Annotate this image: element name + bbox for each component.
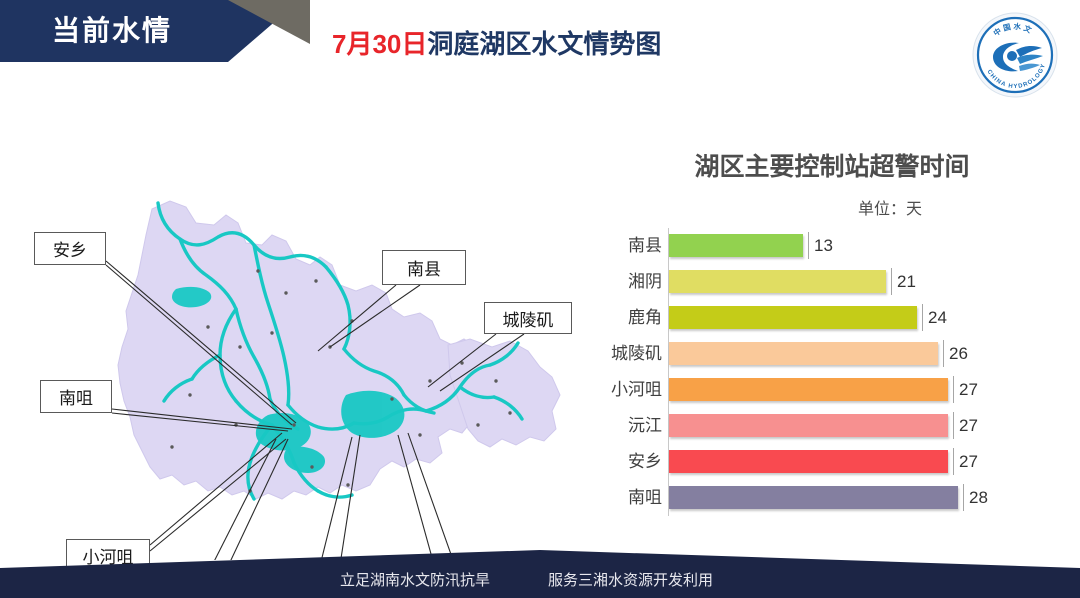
footer-slogan-left: 立足湖南水文防汛抗旱 — [340, 568, 490, 594]
chart-title: 湖区主要控制站超警时间 — [632, 150, 1032, 184]
map-panel: 安乡 南县 城陵矶 南咀 小河咀 沅江 湘阴 鹿角 — [0, 95, 600, 560]
map-callout-anxiang[interactable]: 安乡 — [34, 232, 106, 265]
bar-track — [669, 270, 886, 293]
footer-slogan-right: 服务三湘水资源开发利用 — [548, 568, 713, 594]
chart-panel: 湖区主要控制站超警时间 单位：天 南县13湘阴21鹿角24城陵矶26小河咀27沅… — [600, 140, 1080, 530]
slide-root: 当前水情 7月30日洞庭湖区水文情势图 中国水文 — [0, 0, 1080, 598]
bar-end-tick — [808, 232, 809, 259]
bar-row: 小河咀27 — [600, 372, 1080, 408]
bar-end-tick — [953, 448, 954, 475]
bar-track — [669, 378, 948, 401]
bar-row: 南咀28 — [600, 480, 1080, 516]
bar-fill[interactable] — [669, 486, 958, 509]
bar-fill[interactable] — [669, 450, 948, 473]
bar-row: 城陵矶26 — [600, 336, 1080, 372]
map-callout-nanxian[interactable]: 南县 — [382, 250, 466, 285]
bar-track — [669, 306, 917, 329]
bar-end-tick — [891, 268, 892, 295]
bar-category-label: 南咀 — [600, 480, 662, 516]
bar-end-tick — [953, 376, 954, 403]
bar-value-label: 28 — [969, 480, 988, 516]
bar-fill[interactable] — [669, 270, 886, 293]
map-callout-chenglingji[interactable]: 城陵矶 — [484, 302, 572, 334]
bar-row: 安乡27 — [600, 444, 1080, 480]
bar-fill[interactable] — [669, 234, 803, 257]
bar-category-label: 安乡 — [600, 444, 662, 480]
bar-row: 沅江27 — [600, 408, 1080, 444]
bar-category-label: 鹿角 — [600, 300, 662, 336]
bar-row: 鹿角24 — [600, 300, 1080, 336]
bar-category-label: 城陵矶 — [600, 336, 662, 372]
bar-chart-plot: 南县13湘阴21鹿角24城陵矶26小河咀27沅江27安乡27南咀28 — [600, 228, 1080, 518]
bar-end-tick — [922, 304, 923, 331]
page-title: 7月30日洞庭湖区水文情势图 — [332, 24, 661, 64]
china-hydrology-logo: 中国水文 CHINA HYDROLOGY — [972, 12, 1058, 98]
bar-track — [669, 234, 803, 257]
bar-row: 南县13 — [600, 228, 1080, 264]
bar-row: 湘阴21 — [600, 264, 1080, 300]
bar-value-label: 24 — [928, 300, 947, 336]
bar-end-tick — [943, 340, 944, 367]
page-title-date: 7月30日 — [332, 29, 427, 59]
bar-track — [669, 414, 948, 437]
bar-value-label: 27 — [959, 408, 978, 444]
bar-track — [669, 342, 938, 365]
bar-value-label: 27 — [959, 372, 978, 408]
bar-fill[interactable] — [669, 342, 938, 365]
bar-fill[interactable] — [669, 414, 948, 437]
header: 当前水情 7月30日洞庭湖区水文情势图 中国水文 — [0, 0, 1080, 92]
footer-shape — [0, 550, 1080, 598]
bar-category-label: 小河咀 — [600, 372, 662, 408]
logo-icon: 中国水文 CHINA HYDROLOGY — [972, 12, 1058, 98]
map-callout-nanzui[interactable]: 南咀 — [40, 380, 112, 413]
bar-value-label: 27 — [959, 444, 978, 480]
chart-unit-label: 单位：天 — [858, 198, 1008, 222]
bar-end-tick — [963, 484, 964, 511]
bar-category-label: 南县 — [600, 228, 662, 264]
bar-end-tick — [953, 412, 954, 439]
bar-category-label: 湘阴 — [600, 264, 662, 300]
bar-value-label: 13 — [814, 228, 833, 264]
bar-category-label: 沅江 — [600, 408, 662, 444]
bar-fill[interactable] — [669, 306, 917, 329]
section-banner-label: 当前水情 — [52, 11, 252, 51]
page-title-text: 洞庭湖区水文情势图 — [427, 29, 661, 59]
bar-value-label: 21 — [897, 264, 916, 300]
bar-value-label: 26 — [949, 336, 968, 372]
bar-fill[interactable] — [669, 378, 948, 401]
footer: 立足湖南水文防汛抗旱 服务三湘水资源开发利用 — [0, 550, 1080, 598]
bar-track — [669, 486, 958, 509]
bar-track — [669, 450, 948, 473]
